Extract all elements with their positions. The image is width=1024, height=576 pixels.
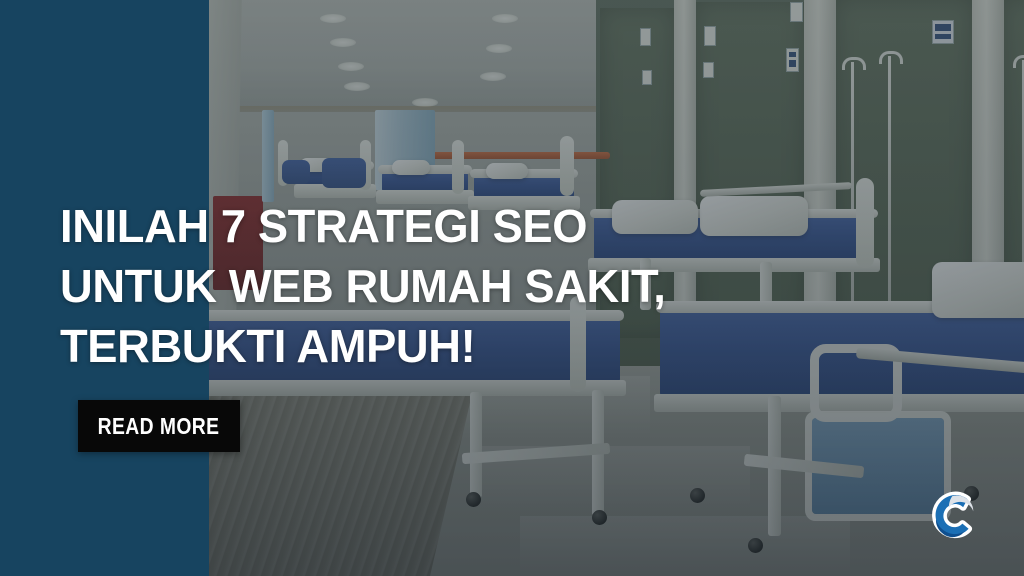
read-more-label: READ MORE xyxy=(98,413,220,440)
read-more-button[interactable]: READ MORE xyxy=(78,400,240,452)
letter-c-wave-logo xyxy=(925,485,985,545)
headline-line-1: INILAH 7 STRATEGI SEO xyxy=(60,196,947,256)
headline-line-2: UNTUK WEB RUMAH SAKIT, xyxy=(60,256,947,316)
page-title: INILAH 7 STRATEGI SEO UNTUK WEB RUMAH SA… xyxy=(60,196,947,376)
promo-banner: INILAH 7 STRATEGI SEO UNTUK WEB RUMAH SA… xyxy=(0,0,1024,576)
headline-line-3: TERBUKTI AMPUH! xyxy=(60,316,947,376)
